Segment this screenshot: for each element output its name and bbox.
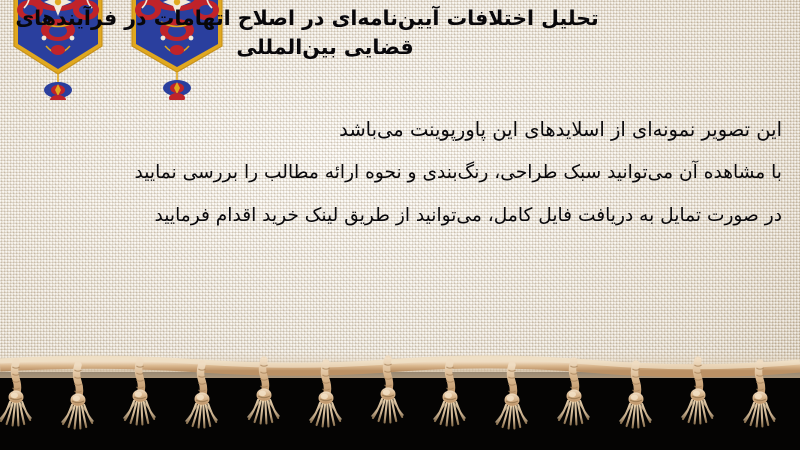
slide-canvas: تحلیل اختلافات آیین‌نامه‌ای در اصلاح اته… [0, 0, 800, 450]
slide-title: تحلیل اختلافات آیین‌نامه‌ای در اصلاح اته… [0, 4, 800, 62]
pendant-left-icon [44, 74, 72, 100]
fringe-svg [0, 352, 800, 450]
title-line-2: قضایی بین‌المللی [0, 33, 800, 62]
body-line-2: با مشاهده آن می‌توانید سبک طراحی، رنگ‌بن… [0, 151, 782, 194]
body-line-1: این تصویر نمونه‌ای از اسلایدهای این پاور… [0, 108, 782, 151]
pendant-right-icon [163, 72, 191, 100]
slide-body: این تصویر نمونه‌ای از اسلایدهای این پاور… [0, 108, 782, 237]
body-line-3: در صورت تمایل به دریافت فایل کامل، می‌تو… [0, 194, 782, 237]
carpet-fringe [0, 352, 800, 450]
title-line-1: تحلیل اختلافات آیین‌نامه‌ای در اصلاح اته… [0, 4, 800, 33]
